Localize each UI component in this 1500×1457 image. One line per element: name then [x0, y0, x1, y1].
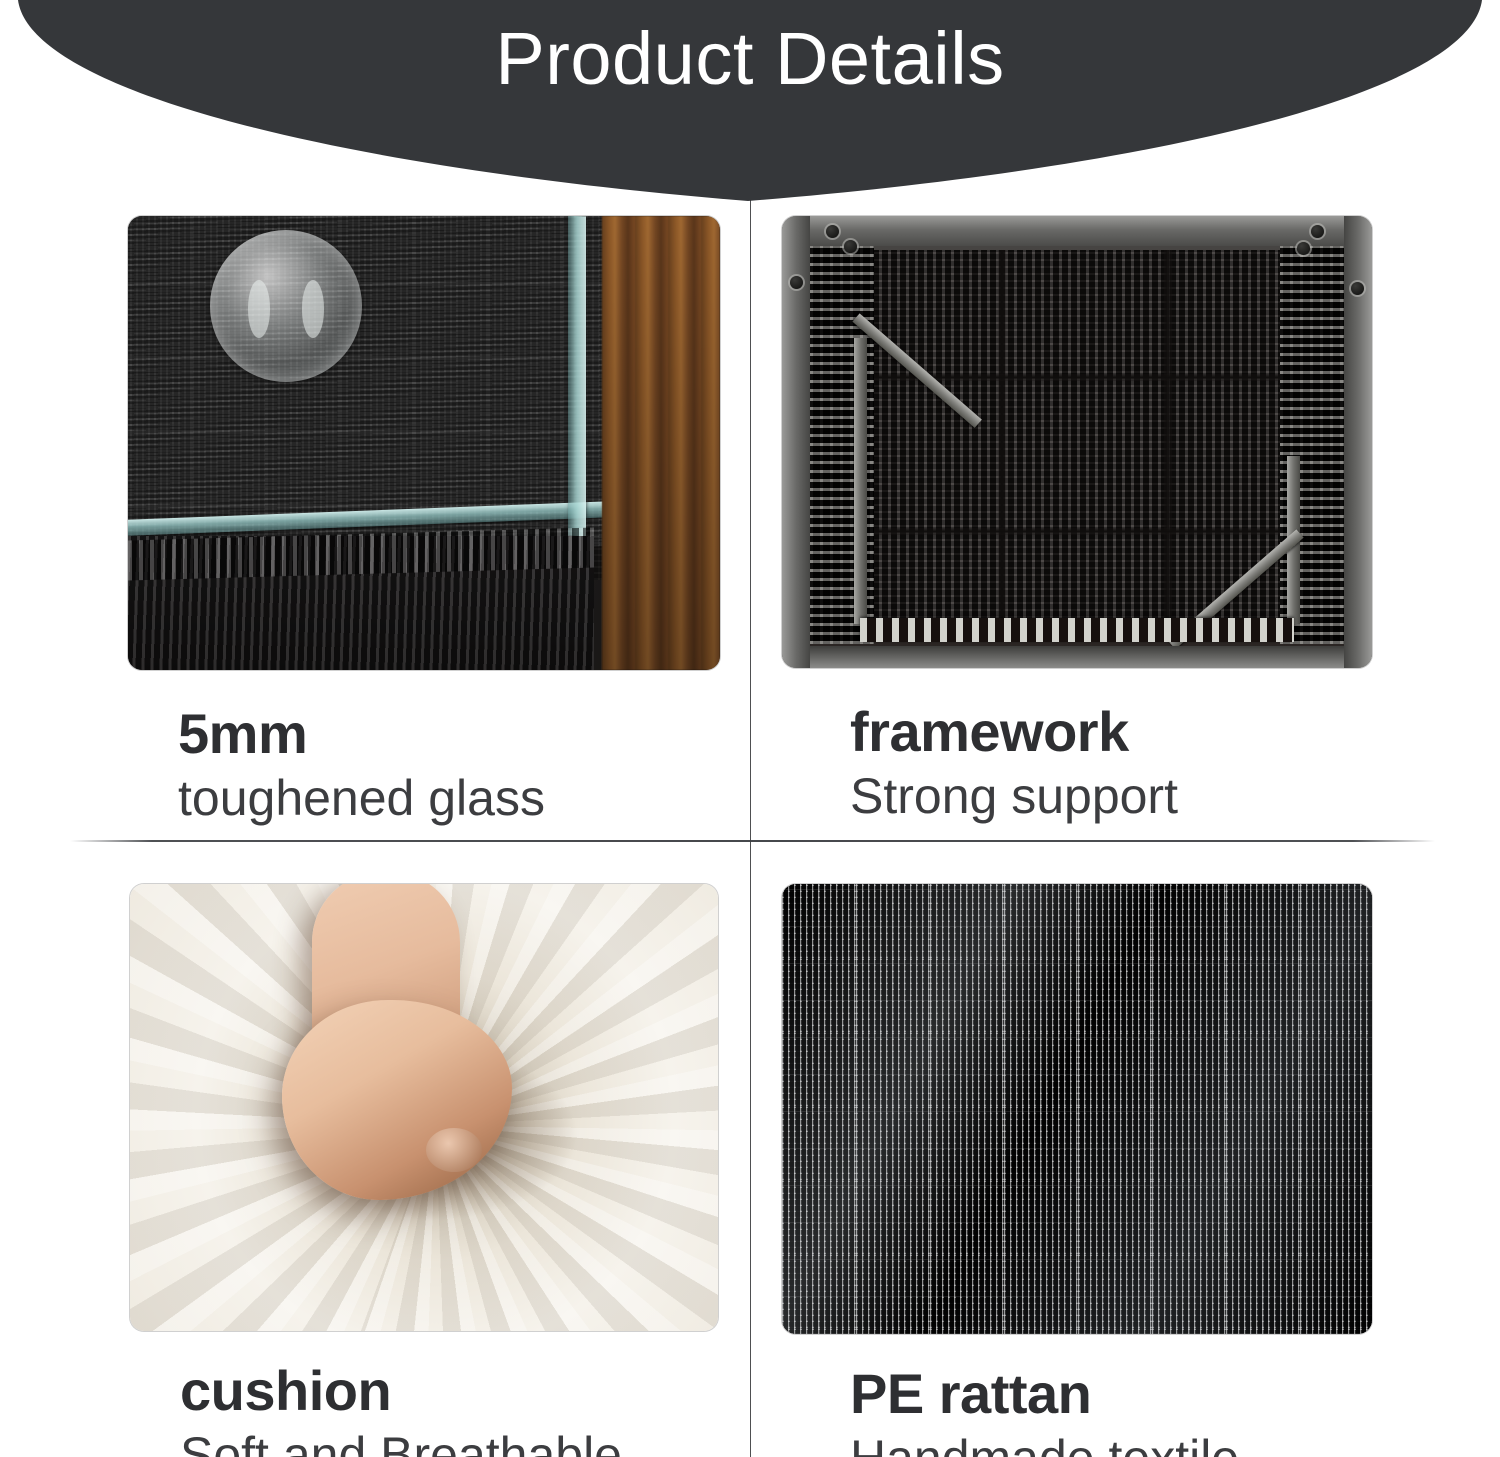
horizontal-divider: [70, 840, 1435, 842]
vertical-divider: [750, 200, 751, 1457]
framework-detail-photo: [782, 216, 1372, 668]
glass-title: 5mm: [178, 704, 720, 764]
bolt-icon: [826, 225, 839, 238]
feature-card-framework: framework Strong support: [782, 216, 1372, 826]
page-title: Product Details: [0, 22, 1500, 96]
header-banner: Product Details: [0, 0, 1500, 215]
framework-title: framework: [850, 702, 1372, 762]
bolt-icon: [1297, 242, 1310, 255]
glass-subtitle: toughened glass: [178, 770, 720, 828]
framework-caption: framework Strong support: [782, 702, 1372, 826]
feature-card-rattan: PE rattan Handmade textile: [782, 884, 1372, 1457]
suction-pad-icon: [210, 230, 362, 382]
rattan-subtitle: Handmade textile: [850, 1430, 1372, 1457]
bolt-icon: [844, 240, 857, 253]
bolt-icon: [790, 276, 803, 289]
rattan-caption: PE rattan Handmade textile: [782, 1364, 1372, 1457]
feature-card-cushion: cushion Soft and Breathable: [130, 884, 718, 1457]
cushion-title: cushion: [180, 1361, 718, 1421]
bolt-icon: [1311, 225, 1324, 238]
bolt-icon: [1351, 282, 1364, 295]
glass-detail-photo: [128, 216, 720, 670]
cushion-caption: cushion Soft and Breathable: [130, 1361, 718, 1457]
rattan-detail-photo: [782, 884, 1372, 1334]
cushion-subtitle: Soft and Breathable: [180, 1427, 718, 1457]
glass-caption: 5mm toughened glass: [128, 704, 720, 828]
cushion-detail-photo: [130, 884, 718, 1331]
feature-card-glass: 5mm toughened glass: [128, 216, 720, 828]
product-details-page: Product Details 5mm toughened glass: [0, 0, 1500, 1457]
rattan-title: PE rattan: [850, 1364, 1372, 1424]
framework-subtitle: Strong support: [850, 768, 1372, 826]
